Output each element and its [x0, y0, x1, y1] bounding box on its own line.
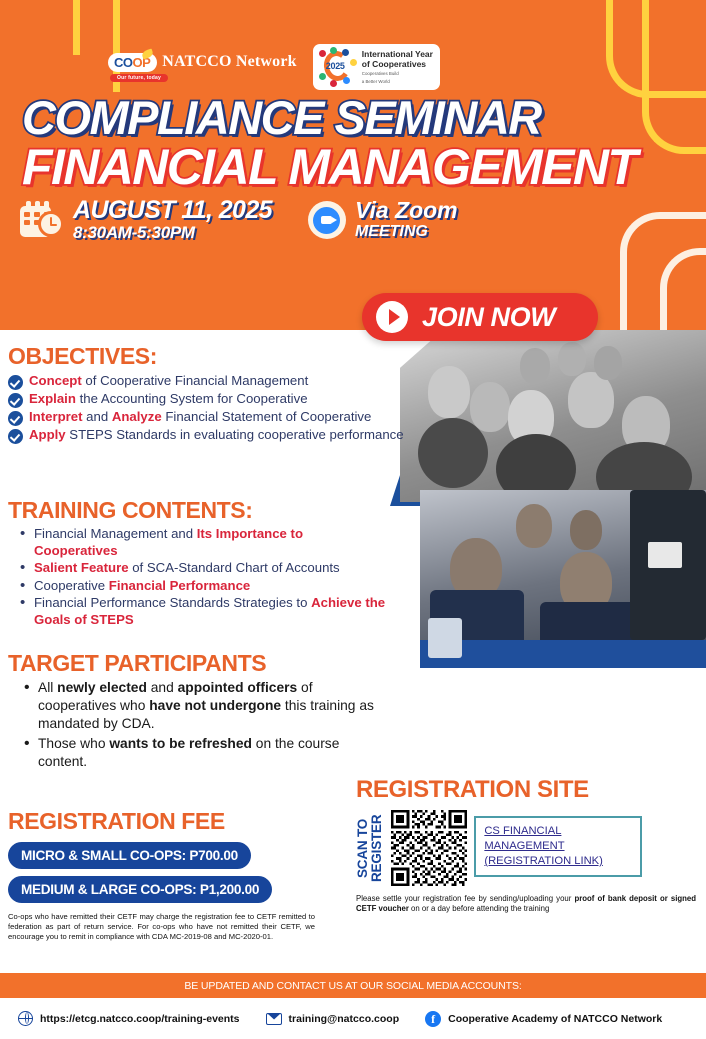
decorative-corner-line-top-right-2 [642, 0, 706, 154]
tc-tail: of SCA-Standard Chart of Accounts [129, 560, 340, 575]
objective-keyword: Explain [29, 391, 76, 406]
natcco-logo-tagline: Our future, today [110, 74, 168, 82]
objective-keyword: Concept [29, 373, 82, 388]
arrow-right-icon [376, 301, 408, 333]
registration-link-line-2[interactable]: MANAGEMENT [484, 839, 632, 854]
coop-mark-co: CO [114, 55, 133, 70]
training-contents-list: Financial Management and Its Importance … [8, 526, 390, 628]
check-circle-icon [8, 375, 23, 390]
page-title: COMPLIANCE SEMINAR FINANCIAL MANAGEMENT [22, 96, 636, 192]
payment-instruction-note: Please settle your registration fee by s… [356, 894, 696, 914]
natcco-logo-name: NATCCO Network [162, 53, 297, 71]
list-item: Explain the Accounting System for Cooper… [8, 391, 408, 408]
registration-fee-section: REGISTRATION FEE MICRO & SMALL CO-OPS: P… [8, 808, 338, 942]
objective-text: Interpret and Analyze Financial Statemen… [29, 409, 371, 426]
check-circle-icon [8, 411, 23, 426]
platform-name: Via Zoom [355, 199, 458, 222]
event-platform: Via Zoom MEETING [308, 199, 458, 241]
registration-fee-heading: REGISTRATION FEE [8, 808, 338, 835]
tc-plain: Financial Performance Standards Strategi… [34, 595, 311, 610]
tc-highlight: Financial Performance [109, 578, 250, 593]
contact-bar: https://etcg.natcco.coop/training-events… [0, 998, 706, 1039]
registration-site-heading: REGISTRATION SITE [356, 776, 700, 804]
seminar-poster: CO OP NATCCO Network Our future, today 2… [0, 0, 706, 1039]
registration-link-line-1[interactable]: CS FINANCIAL [484, 824, 632, 839]
qr-code-icon [391, 810, 467, 886]
event-date: AUGUST 11, 2025 [73, 198, 272, 223]
social-media-prompt-bar: BE UPDATED AND CONTACT US AT OUR SOCIAL … [0, 973, 706, 998]
leaf-icon [141, 48, 154, 59]
objective-rest: the Accounting System for Cooperative [76, 391, 308, 406]
tc-plain: Financial Management and [34, 526, 197, 541]
tc-plain: Cooperative [34, 578, 109, 593]
title-line-1: COMPLIANCE SEMINAR [22, 96, 636, 141]
objective-text: Apply STEPS Standards in evaluating coop… [29, 427, 404, 444]
list-item: Financial Performance Standards Strategi… [34, 595, 390, 628]
join-now-button[interactable]: JOIN NOW [362, 293, 598, 341]
objective-rest-2: Financial Statement of Cooperative [162, 409, 372, 424]
cetf-fineprint: Co-ops who have remitted their CETF may … [8, 912, 315, 942]
list-item: Interpret and Analyze Financial Statemen… [8, 409, 408, 426]
platform-subtitle: MEETING [355, 222, 458, 241]
training-contents-section: TRAINING CONTENTS: Financial Management … [8, 497, 390, 629]
logo-row: CO OP NATCCO Network Our future, today 2… [108, 44, 440, 90]
list-item: Salient Feature of SCA-Standard Chart of… [34, 560, 390, 577]
list-item: Apply STEPS Standards in evaluating coop… [8, 427, 408, 444]
event-datetime: AUGUST 11, 2025 8:30AM-5:30PM [20, 198, 272, 243]
objective-rest: and [83, 409, 112, 424]
tc-highlight: Salient Feature [34, 560, 129, 575]
objective-text: Explain the Accounting System for Cooper… [29, 391, 308, 408]
coop-mark-icon: CO OP [108, 53, 157, 72]
check-circle-icon [8, 429, 23, 444]
join-now-label: JOIN NOW [422, 302, 555, 333]
check-circle-icon [8, 393, 23, 408]
iyc-emblem-icon: 2025 [317, 47, 357, 87]
contact-facebook[interactable]: f Cooperative Academy of NATCCO Network [425, 1011, 662, 1027]
contact-website[interactable]: https://etcg.natcco.coop/training-events [18, 1011, 240, 1026]
iyc-title-line2: of Cooperatives [362, 60, 433, 70]
objectives-heading: OBJECTIVES: [8, 343, 408, 370]
fee-badge-medium-large: MEDIUM & LARGE CO-OPS: P1,200.00 [8, 876, 272, 903]
objective-keyword: Interpret [29, 409, 83, 424]
registration-site-section: REGISTRATION SITE SCAN TO REGISTER [356, 776, 700, 914]
target-participants-section: TARGET PARTICIPANTS All newly elected an… [8, 650, 378, 773]
zoom-video-icon [308, 201, 346, 239]
objective-rest: STEPS Standards in evaluating cooperativ… [66, 427, 404, 442]
list-item: All newly elected and appointed officers… [38, 679, 378, 733]
iyc-2025-logo: 2025 International Year of Cooperatives … [313, 44, 440, 90]
iyc-subtitle-line2: a Better World [362, 79, 433, 84]
email-address[interactable]: training@natcco.coop [289, 1013, 400, 1025]
seminar-group-photo [400, 330, 706, 502]
registration-link-box[interactable]: CS FINANCIAL MANAGEMENT (REGISTRATION LI… [474, 816, 642, 877]
contact-email[interactable]: training@natcco.coop [266, 1013, 400, 1025]
event-meta: AUGUST 11, 2025 8:30AM-5:30PM Via Zoom M… [20, 198, 458, 243]
fee-badge-micro-small: MICRO & SMALL CO-OPS: P700.00 [8, 842, 251, 869]
globe-icon [18, 1011, 33, 1026]
list-item: Financial Management and Its Importance … [34, 526, 390, 559]
list-item: Concept of Cooperative Financial Managem… [8, 373, 408, 390]
target-participants-heading: TARGET PARTICIPANTS [8, 650, 378, 677]
objective-keyword: Apply [29, 427, 66, 442]
facebook-icon: f [425, 1011, 441, 1027]
objectives-list: Concept of Cooperative Financial Managem… [8, 373, 408, 444]
objective-keyword-2: Analyze [112, 409, 162, 424]
website-url[interactable]: https://etcg.natcco.coop/training-events [40, 1013, 240, 1025]
decorative-corner-line-top-left-2 [0, 0, 80, 55]
title-line-2: FINANCIAL MANAGEMENT [22, 143, 636, 192]
training-contents-heading: TRAINING CONTENTS: [8, 497, 390, 524]
mail-icon [266, 1013, 282, 1025]
qr-code[interactable] [391, 810, 467, 886]
natcco-logo: CO OP NATCCO Network Our future, today [108, 53, 297, 82]
registration-link-line-3[interactable]: (REGISTRATION LINK) [484, 854, 632, 869]
objective-text: Concept of Cooperative Financial Managem… [29, 373, 308, 390]
calendar-clock-icon [20, 201, 64, 239]
facebook-page-name[interactable]: Cooperative Academy of NATCCO Network [448, 1013, 662, 1025]
list-item: Cooperative Financial Performance [34, 578, 390, 595]
seminar-workshop-photo [420, 490, 706, 668]
iyc-subtitle-line1: Cooperatives Build [362, 71, 433, 76]
iyc-year: 2025 [326, 61, 345, 71]
target-participants-list: All newly elected and appointed officers… [8, 679, 378, 771]
scan-to-register-label: SCAN TO REGISTER [356, 810, 384, 886]
event-time: 8:30AM-5:30PM [73, 223, 272, 243]
objective-rest: of Cooperative Financial Management [82, 373, 309, 388]
list-item: Those who wants to be refreshed on the c… [38, 735, 378, 771]
objectives-section: OBJECTIVES: Concept of Cooperative Finan… [8, 343, 408, 445]
